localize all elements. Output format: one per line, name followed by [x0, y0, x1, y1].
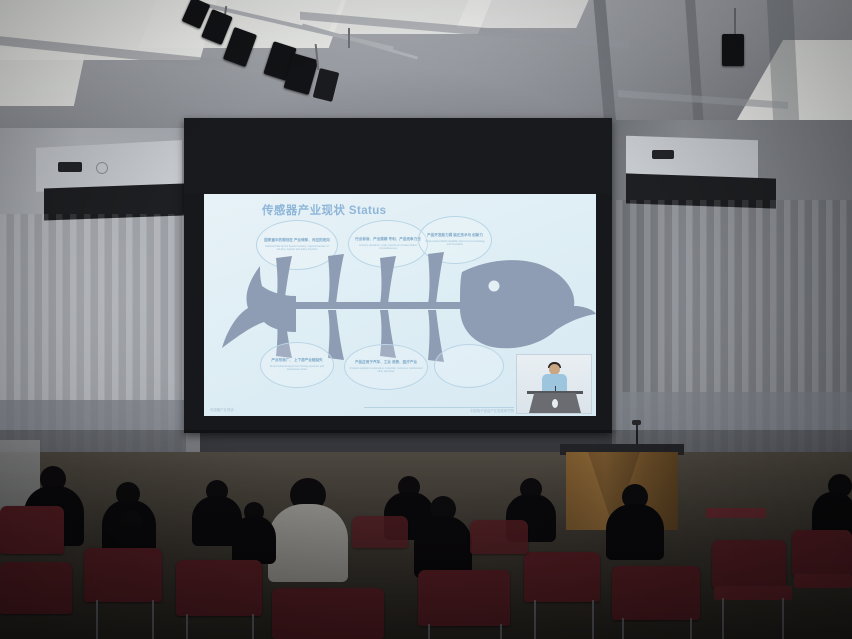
conference-hall-scene: 传感器产业现状 Status 国家重中的规划在 产业转移、对应的定向 Natio… [0, 0, 852, 639]
chair-leg [592, 600, 594, 639]
bubble-en-text: Weak product R&D capability; lack of cor… [423, 240, 487, 247]
ceiling-light-panel [456, 0, 596, 28]
ceiling-light-panel [0, 48, 86, 106]
chair[interactable] [712, 540, 786, 588]
speaker-video-feed [516, 354, 592, 414]
chair[interactable] [470, 520, 528, 554]
ceiling-beam [685, 0, 705, 140]
wall-projector [58, 162, 82, 172]
fish-head [460, 260, 596, 348]
chair-leg [534, 600, 536, 639]
bubble-cn-text: 产业布局广、 上下游产业链缺失 [271, 358, 322, 363]
chair-leg [96, 600, 98, 639]
chair-leg [252, 614, 254, 639]
chair[interactable] [524, 552, 600, 602]
chair-seat[interactable] [794, 574, 852, 588]
chair-leg [622, 618, 624, 639]
projection-screen: 传感器产业现状 Status 国家重中的规划在 产业转移、对应的定向 Natio… [184, 118, 612, 433]
chair-leg [186, 614, 188, 639]
chair[interactable] [272, 588, 384, 639]
ceiling-speaker-icon [96, 162, 108, 174]
chair-leg [500, 624, 502, 639]
bubble-en-text: Industry standards, scale, patents and w… [353, 244, 423, 251]
chair[interactable] [418, 570, 510, 626]
chair-leg [690, 618, 692, 639]
pip-lectern-emblem [552, 399, 558, 408]
lamp-arm [348, 28, 350, 48]
side-table [706, 508, 766, 518]
fish-eye [489, 281, 500, 292]
bubble-en-text: Products applied in automotive, industri… [349, 367, 423, 374]
chair-leg [782, 598, 784, 639]
fish-rib-upper-3 [380, 256, 396, 304]
ceiling-projector [722, 34, 744, 66]
presentation-slide: 传感器产业现状 Status 国家重中的规划在 产业转移、对应的定向 Natio… [204, 194, 596, 416]
audience-member [606, 504, 664, 560]
screen-masking [184, 118, 612, 194]
chair-seat[interactable] [714, 586, 792, 600]
chair[interactable] [0, 562, 72, 614]
bubble-en-text: Broad industrial layout but missing upst… [265, 365, 329, 372]
projector-mount [734, 8, 736, 34]
bubble-cn-text: 国家重中的规划在 产业转移、对应的定向 [264, 238, 330, 243]
fish-spine [260, 302, 468, 309]
chair-leg [722, 598, 724, 639]
fish-rib-upper-2 [328, 254, 344, 304]
slide-title: 传感器产业现状 Status [262, 202, 386, 218]
audience-member [414, 516, 472, 578]
audience-member-white-shirt [268, 504, 348, 582]
chair[interactable] [84, 548, 162, 602]
audience-member [232, 516, 276, 564]
chair[interactable] [176, 560, 262, 616]
fishbone-cause-bubble-bottom-3 [434, 344, 504, 388]
bubble-cn-text: 产品开发能力弱 缺乏技术与 创新力 [427, 233, 483, 238]
chair[interactable] [352, 516, 408, 548]
chair[interactable] [792, 530, 852, 576]
bubble-cn-text: 行业标准、产业规模 专利、产品竞争力差 [355, 237, 421, 242]
chair[interactable] [612, 566, 700, 620]
chair-leg [428, 624, 430, 639]
fishbone-cause-bubble-bottom-1: 产业布局广、 上下游产业链缺失 Broad industrial layout … [260, 342, 334, 388]
bubble-cn-text: 产品应用于汽车、工业 消费、医疗产业 [355, 360, 417, 365]
fishbone-cause-bubble-bottom-2: 产品应用于汽车、工业 消费、医疗产业 Products applied in a… [344, 344, 428, 390]
chair-leg [152, 600, 154, 639]
fish-rib-lower-2 [328, 310, 344, 360]
wall-speaker [652, 150, 674, 159]
chair[interactable] [0, 506, 64, 554]
lectern-microphone-stem [636, 424, 638, 446]
fish-rib-upper-4 [428, 252, 444, 304]
bubble-en-text: National Plan for the Sensor Industry; r… [261, 245, 333, 252]
slide-footer-right: 中国电子信息产业发展研究院 [470, 408, 514, 413]
slide-footer-left: 传感器产业现状 [210, 407, 234, 412]
